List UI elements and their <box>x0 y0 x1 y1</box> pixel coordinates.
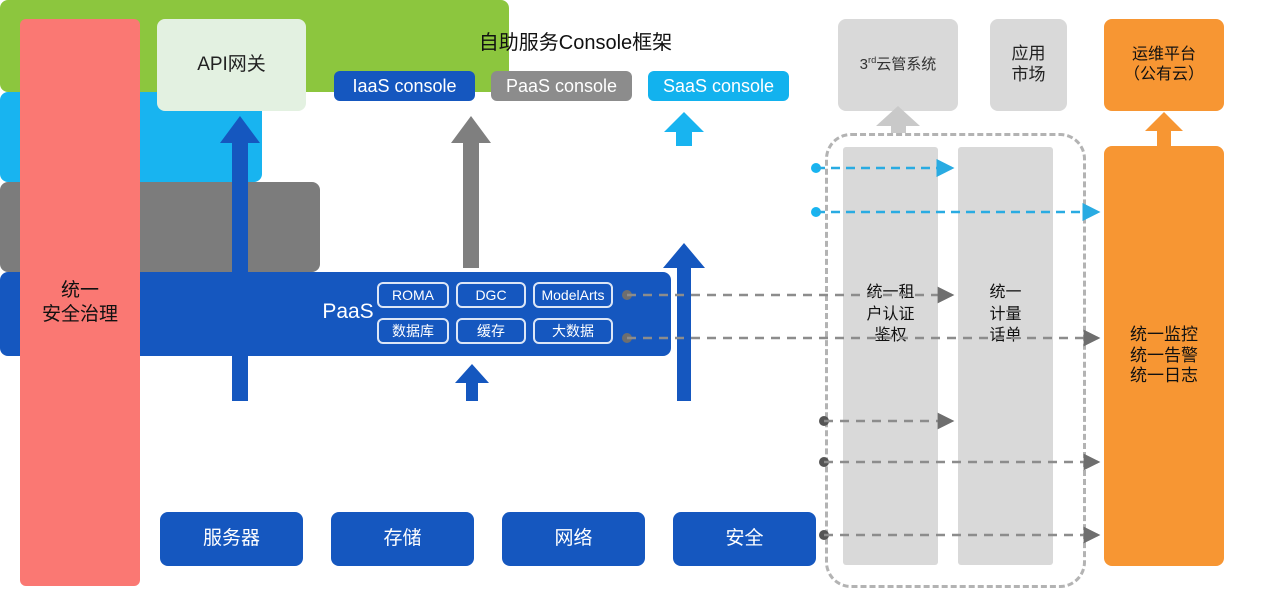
api-gateway-box[interactable]: API网关 <box>157 19 306 111</box>
third-party-cloud-label: 3rd云管系统 <box>860 55 937 74</box>
saas-service-label: 桌面云 <box>738 202 786 218</box>
metering-line-2: 计量 <box>958 304 1053 326</box>
arrow-saas-to-console <box>664 112 704 146</box>
saas-layer-label: SaaS <box>563 178 635 202</box>
security-line-2: 安全治理 <box>42 303 118 326</box>
paas-service-database[interactable]: 数据库 <box>377 318 449 344</box>
paas-console-label: PaaS console <box>506 77 617 95</box>
infra-service-label: Compute <box>361 431 438 450</box>
infra-service-label: Network <box>606 431 676 450</box>
unified-security-governance-panel: 统一 安全治理 <box>20 19 140 586</box>
iaas-console-chip[interactable]: IaaS console <box>334 71 475 101</box>
hardware-label: 安全 <box>725 527 763 550</box>
console-frame-title: 自助服务Console框架 <box>321 26 830 55</box>
paas-console-chip[interactable]: PaaS console <box>491 71 632 101</box>
saas-service-label: 区块链 <box>654 166 702 182</box>
paas-service-label: ROMA <box>392 288 434 302</box>
saas-service-iot[interactable]: IoT <box>724 160 800 188</box>
third-suffix: 云管系统 <box>876 56 936 73</box>
third-party-cloud-management-box[interactable]: 3rd云管系统 <box>838 19 958 111</box>
paas-service-modelarts[interactable]: ModelArts <box>533 282 613 308</box>
app-market-box[interactable]: 应用 市场 <box>990 19 1067 111</box>
shared-service-column-auth[interactable] <box>843 147 938 565</box>
auth-line-1: 统一租 <box>843 282 938 304</box>
paas-service-label: DGC <box>475 288 506 302</box>
hardware-label: 服务器 <box>203 527 260 550</box>
saas-console-label: SaaS console <box>663 77 774 95</box>
hardware-box-network[interactable]: 网络 <box>502 512 645 566</box>
architecture-diagram: 统一 安全治理 API网关 自助服务Console框架 IaaS console… <box>0 0 1265 605</box>
shared-service-metering-label: 统一 计量 话单 <box>958 282 1053 347</box>
paas-service-label: 数据库 <box>392 324 434 338</box>
ops-bar-line-3: 统一日志 <box>1130 366 1198 387</box>
arrow-paas-to-console <box>451 116 491 268</box>
hardware-box-storage[interactable]: 存储 <box>331 512 474 566</box>
saas-service-video-cloud[interactable]: 视频云 <box>640 196 716 224</box>
paas-service-label: 大数据 <box>552 324 594 338</box>
auth-line-2: 户认证 <box>843 304 938 326</box>
app-market-line-1: 应用 <box>1012 44 1046 65</box>
hardware-box-server[interactable]: 服务器 <box>160 512 303 566</box>
hardware-label: 网络 <box>554 527 592 550</box>
infra-service-network[interactable]: Network <box>586 423 696 457</box>
infrastructure-label: 统一基础设施服务 <box>172 428 342 455</box>
security-line-1: 统一 <box>42 279 118 302</box>
infra-service-compute[interactable]: Compute <box>345 423 455 457</box>
saas-service-label: IoT <box>750 166 773 182</box>
metering-line-1: 统一 <box>958 282 1053 304</box>
saas-service-desktop-cloud[interactable]: 桌面云 <box>724 196 800 224</box>
hardware-box-security[interactable]: 安全 <box>673 512 816 566</box>
shared-service-auth-label: 统一租 户认证 鉴权 <box>843 282 938 347</box>
paas-service-bigdata[interactable]: 大数据 <box>533 318 613 344</box>
paas-service-label: ModelArts <box>541 288 604 302</box>
paas-service-dgc[interactable]: DGC <box>456 282 526 308</box>
infra-service-storage[interactable]: Storage <box>466 423 576 457</box>
paas-service-roma[interactable]: ROMA <box>377 282 449 308</box>
ops-bar-line-2: 统一告警 <box>1130 346 1198 367</box>
ops-platform-box[interactable]: 运维平台 （公有云） <box>1104 19 1224 111</box>
app-market-line-2: 市场 <box>1012 65 1046 86</box>
iaas-console-label: IaaS console <box>352 77 456 95</box>
arrow-opsbar-to-ops-platform <box>1145 112 1183 146</box>
infra-service-label: Storage <box>488 431 555 450</box>
infra-service-label: CCE <box>741 431 781 450</box>
ops-bar-line-1: 统一监控 <box>1130 325 1198 346</box>
auth-line-3: 鉴权 <box>843 325 938 347</box>
ops-monitoring-bar: 统一监控 统一告警 统一日志 <box>1104 146 1224 566</box>
shared-service-column-metering[interactable] <box>958 147 1053 565</box>
ops-platform-line-1: 运维平台 <box>1124 45 1204 65</box>
paas-service-cache[interactable]: 缓存 <box>456 318 526 344</box>
saas-console-chip[interactable]: SaaS console <box>648 71 789 101</box>
saas-service-label: 视频云 <box>654 202 702 218</box>
third-prefix: 3 <box>860 56 868 73</box>
infra-service-cce[interactable]: CCE <box>706 423 816 457</box>
arrow-infra-to-paas <box>455 364 489 401</box>
paas-layer-label: PaaS <box>313 300 383 324</box>
metering-line-3: 话单 <box>958 325 1053 347</box>
hardware-label: 存储 <box>383 527 421 550</box>
ops-platform-line-2: （公有云） <box>1124 65 1204 85</box>
paas-service-label: 缓存 <box>477 324 505 338</box>
saas-service-blockchain[interactable]: 区块链 <box>640 160 716 188</box>
api-gateway-label: API网关 <box>197 53 266 76</box>
